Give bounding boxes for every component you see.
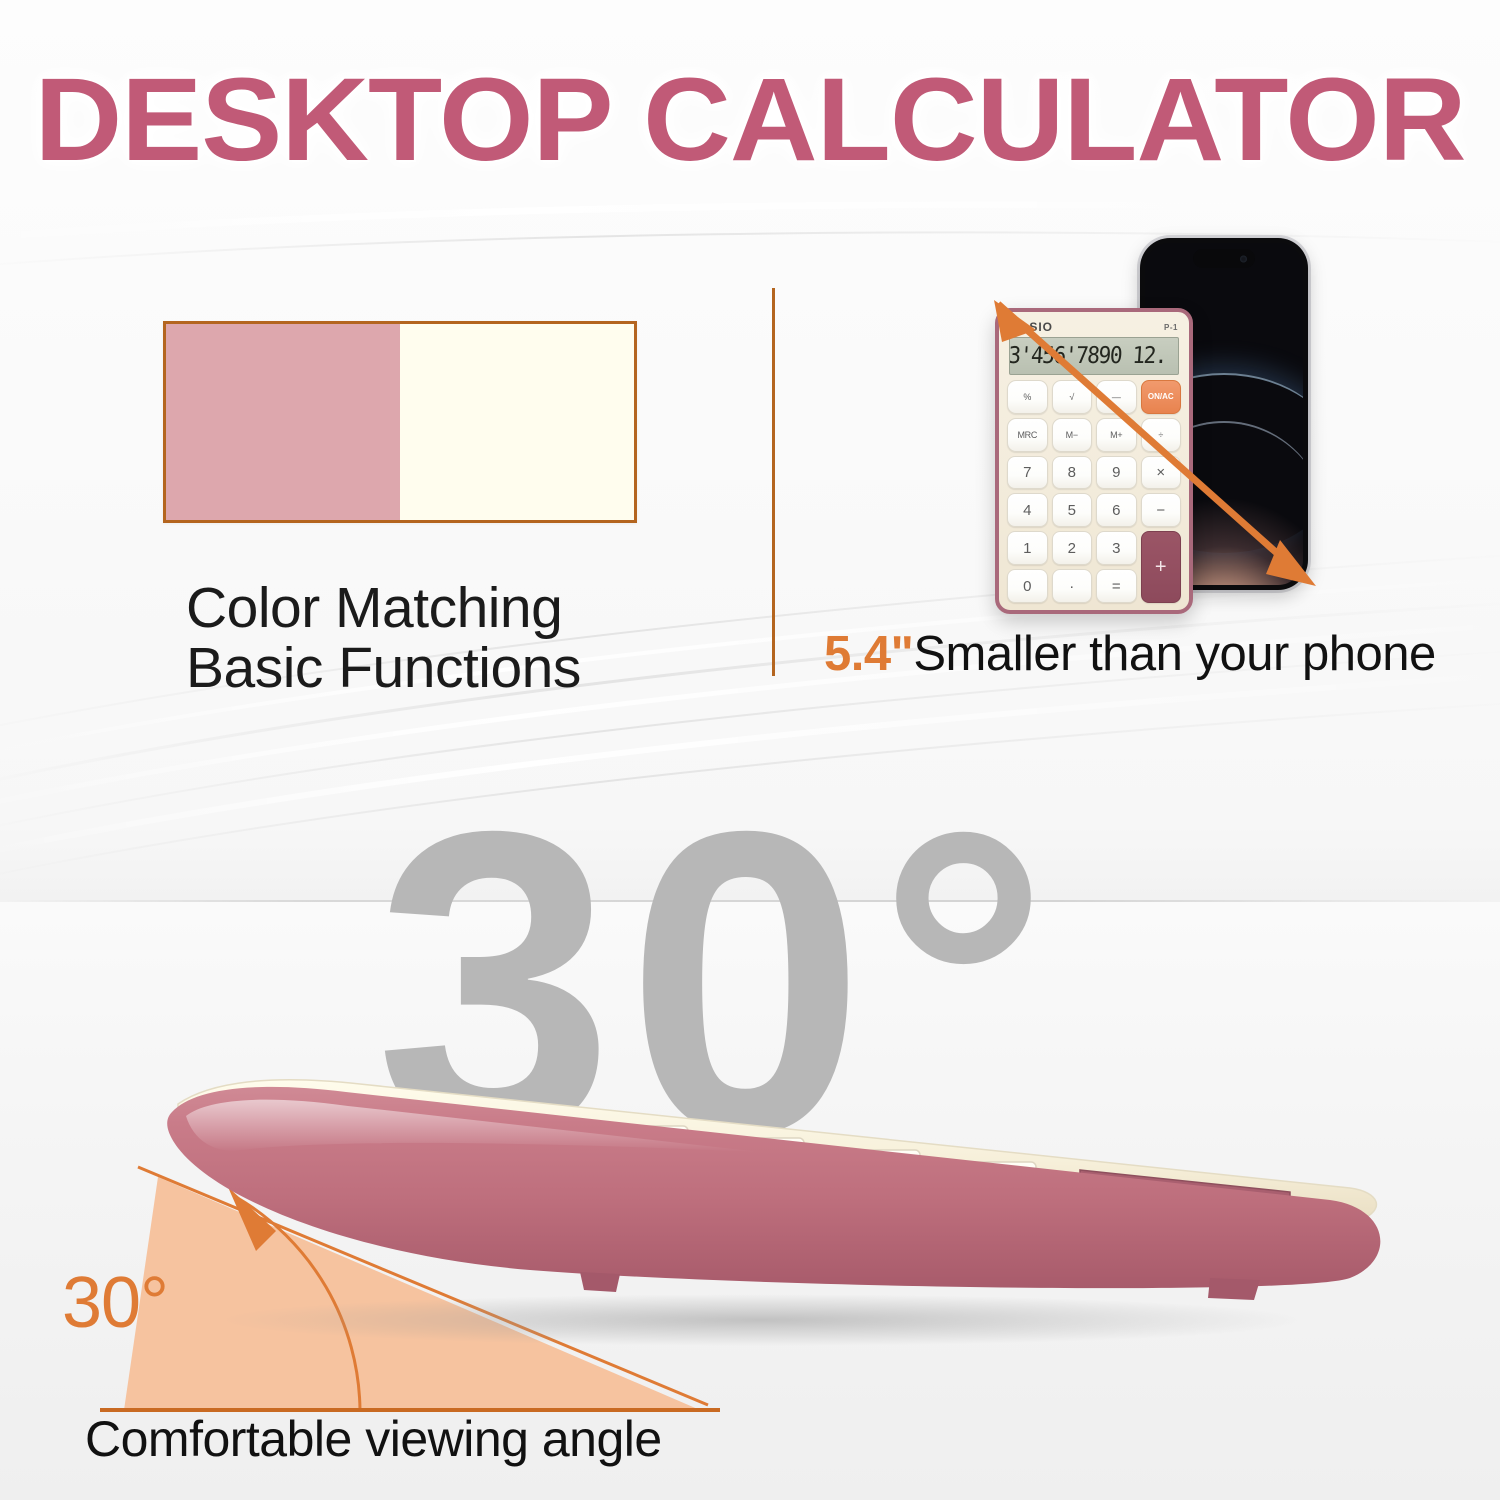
calculator-keypad[interactable]: %√—ON/ACMRCM−M+÷789×456−123+0·= — [1007, 380, 1181, 603]
calc-key-7[interactable]: 7 — [1007, 456, 1048, 490]
size-value: 5.4" — [824, 627, 913, 681]
calculator-brand: CASIO — [1010, 320, 1053, 334]
calc-key-m[interactable]: M+ — [1096, 418, 1137, 452]
bottom-caption: Comfortable viewing angle — [85, 1410, 662, 1468]
caption-line-1: Color Matching — [186, 578, 746, 638]
calc-key-[interactable]: ÷ — [1141, 418, 1182, 452]
calculator-brand-row: CASIO P-1 — [1010, 320, 1178, 334]
calc-key-[interactable]: √ — [1052, 380, 1093, 414]
calc-key-[interactable]: % — [1007, 380, 1048, 414]
calc-key-2[interactable]: 2 — [1052, 531, 1093, 565]
calc-key-[interactable]: − — [1141, 493, 1182, 527]
swatch-pink-half — [166, 324, 400, 520]
color-swatch — [163, 321, 637, 523]
calc-key-1[interactable]: 1 — [1007, 531, 1048, 565]
size-caption-text: Smaller than your phone — [913, 627, 1435, 681]
calculator-display-value: 123'456'7890 12. — [1009, 343, 1167, 369]
page-title: DESKTOP CALCULATOR — [0, 52, 1500, 188]
calc-key-[interactable]: — — [1096, 380, 1137, 414]
calculator-side-view — [60, 1020, 1390, 1360]
size-caption: 5.4"Smaller than your phone — [824, 626, 1436, 682]
calc-key-[interactable]: × — [1141, 456, 1182, 490]
calc-key-3[interactable]: 3 — [1096, 531, 1137, 565]
calc-key-4[interactable]: 4 — [1007, 493, 1048, 527]
dynamic-island — [1193, 249, 1255, 268]
vertical-divider — [772, 288, 775, 676]
calculator-model: P-1 — [1164, 323, 1178, 332]
product-infographic: DESKTOP CALCULATOR Color Matching Basic … — [0, 0, 1500, 1500]
calc-key-5[interactable]: 5 — [1052, 493, 1093, 527]
calc-key-m[interactable]: M− — [1052, 418, 1093, 452]
calc-key-9[interactable]: 9 — [1096, 456, 1137, 490]
calc-key-mrc[interactable]: MRC — [1007, 418, 1048, 452]
calculator-display: 123'456'7890 12. — [1009, 337, 1179, 375]
calc-key-[interactable]: · — [1052, 569, 1093, 603]
calc-key-6[interactable]: 6 — [1096, 493, 1137, 527]
calc-key-[interactable]: = — [1096, 569, 1137, 603]
calc-key-8[interactable]: 8 — [1052, 456, 1093, 490]
caption-line-2: Basic Functions — [186, 638, 746, 698]
swatch-cream-half — [400, 324, 634, 520]
calculator-front-view: CASIO P-1 123'456'7890 12. %√—ON/ACMRCM−… — [995, 308, 1193, 614]
calc-key-0[interactable]: 0 — [1007, 569, 1048, 603]
calc-key-[interactable]: + — [1141, 531, 1182, 603]
calc-key-on-ac[interactable]: ON/AC — [1141, 380, 1182, 414]
color-matching-caption: Color Matching Basic Functions — [186, 578, 746, 699]
